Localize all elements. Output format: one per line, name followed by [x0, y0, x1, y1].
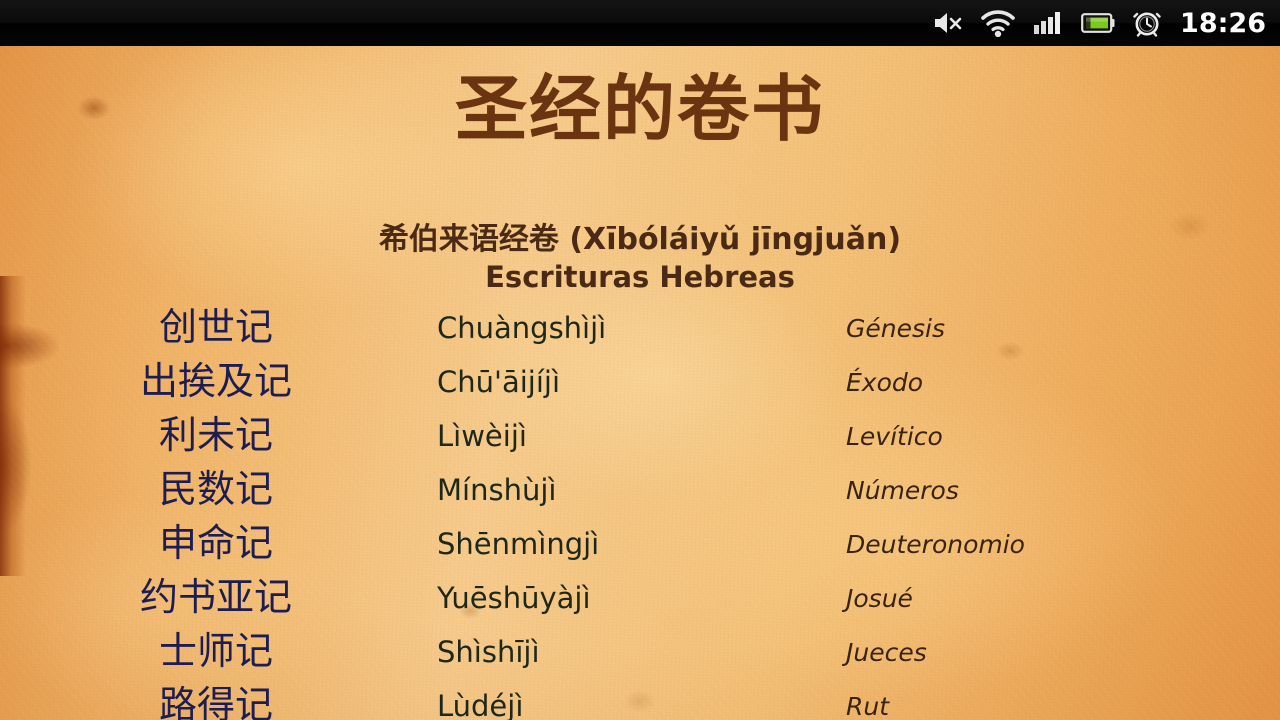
book-name-spanish: Jueces [846, 635, 927, 671]
book-name-spanish: Génesis [846, 311, 945, 347]
cellular-signal-icon [1033, 6, 1063, 40]
book-name-chinese: 路得记 [56, 682, 376, 720]
book-name-spanish: Rut [846, 689, 889, 720]
section-subtitle-chinese: 希伯来语经卷 (Xībóláiyǔ jīngjuǎn) [0, 214, 1280, 258]
app-root: 18:26 圣经的卷书 希伯来语经卷 (Xībóláiyǔ jīngjuǎn) … [0, 0, 1280, 720]
book-name-pinyin: Lùdéjì [437, 686, 523, 720]
book-name-pinyin: Chū'āijíjì [437, 362, 560, 402]
book-name-spanish: Deuteronomio [846, 527, 1025, 563]
book-row[interactable]: 申命记 Shēnmìngjì Deuteronomio [0, 518, 1280, 572]
battery-icon [1081, 6, 1115, 40]
book-name-spanish: Éxodo [846, 365, 923, 401]
page-title: 圣经的卷书 [0, 68, 1280, 151]
book-name-pinyin: Chuàngshìjì [437, 308, 606, 348]
book-row[interactable]: 士师记 Shìshījì Jueces [0, 626, 1280, 680]
book-name-pinyin: Shìshījì [437, 632, 540, 672]
book-name-chinese: 利未记 [56, 412, 376, 458]
book-name-chinese: 民数记 [56, 466, 376, 512]
book-name-spanish: Levítico [846, 419, 943, 455]
book-name-pinyin: Yuēshūyàjì [437, 578, 591, 618]
parchment-page: 圣经的卷书 希伯来语经卷 (Xībóláiyǔ jīngjuǎn) Escrit… [0, 46, 1280, 720]
book-name-pinyin: Shēnmìngjì [437, 524, 599, 564]
book-row[interactable]: 路得记 Lùdéjì Rut [0, 680, 1280, 720]
section-subtitle-spanish: Escrituras Hebreas [0, 260, 1280, 294]
book-name-pinyin: Mínshùjì [437, 470, 556, 510]
book-name-pinyin: Lìwèijì [437, 416, 527, 456]
book-name-chinese: 出挨及记 [56, 358, 376, 404]
book-row[interactable]: 创世记 Chuàngshìjì Génesis [0, 302, 1280, 356]
book-name-chinese: 创世记 [56, 304, 376, 350]
book-row[interactable]: 民数记 Mínshùjì Números [0, 464, 1280, 518]
status-bar: 18:26 [0, 0, 1280, 46]
book-name-spanish: Josué [846, 581, 913, 617]
book-row[interactable]: 约书亚记 Yuēshūyàjì Josué [0, 572, 1280, 626]
book-name-chinese: 申命记 [56, 520, 376, 566]
book-name-chinese: 士师记 [56, 628, 376, 674]
status-bar-clock: 18:26 [1180, 8, 1266, 39]
volume-muted-icon [933, 6, 963, 40]
book-list: 创世记 Chuàngshìjì Génesis 出挨及记 Chū'āijíjì … [0, 302, 1280, 720]
wifi-icon [981, 6, 1015, 40]
alarm-clock-icon [1133, 6, 1161, 40]
book-name-spanish: Números [846, 473, 959, 509]
book-row[interactable]: 出挨及记 Chū'āijíjì Éxodo [0, 356, 1280, 410]
book-row[interactable]: 利未记 Lìwèijì Levítico [0, 410, 1280, 464]
page-content: 圣经的卷书 希伯来语经卷 (Xībóláiyǔ jīngjuǎn) Escrit… [0, 46, 1280, 720]
book-name-chinese: 约书亚记 [56, 574, 376, 620]
